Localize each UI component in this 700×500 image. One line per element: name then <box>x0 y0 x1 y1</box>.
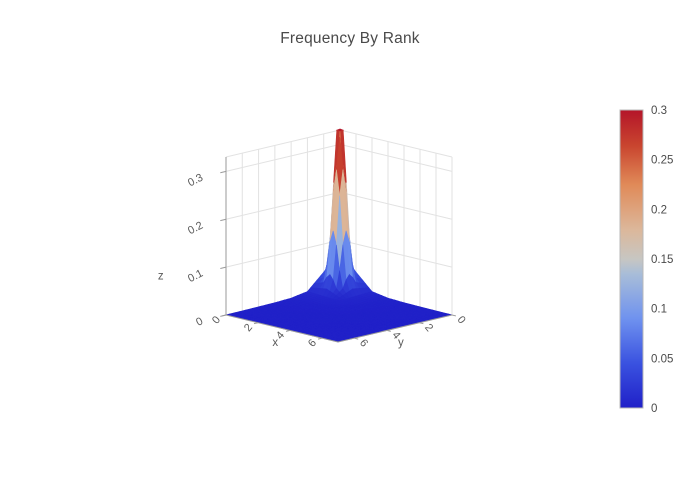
y-tick-label: 0 <box>455 314 468 326</box>
x-tick-mark <box>286 330 290 331</box>
z-tick-mark <box>220 267 226 268</box>
y-tick-mark <box>387 330 391 331</box>
colorbar-tick-label: 0.05 <box>651 353 673 365</box>
x-tick-mark <box>254 323 258 324</box>
y-tick-mark <box>354 338 358 339</box>
surface-plot-scene[interactable]: 0246024600.10.20.3 xyz 0.30.250.20.150.1… <box>0 0 700 500</box>
z-tick-label: 0.1 <box>186 267 205 285</box>
z-axis-title: z <box>158 270 164 282</box>
y-tick-mark <box>419 323 423 324</box>
x-tick-label: 2 <box>242 322 255 334</box>
y-tick-label: 6 <box>357 337 370 349</box>
z-tick-label: 0 <box>194 315 205 328</box>
colorbar-tick-label: 0.15 <box>651 254 673 266</box>
y-tick-label: 2 <box>422 322 435 334</box>
colorbar-tick-label: 0.2 <box>651 204 667 216</box>
x-axis-title: x <box>272 337 278 349</box>
colorbar[interactable]: 0.30.250.20.150.10.050 <box>620 105 673 415</box>
x-tick-label: 6 <box>306 337 319 349</box>
z-tick-mark <box>220 171 226 172</box>
z-tick-mark <box>220 219 226 220</box>
x-tick-mark <box>318 338 322 339</box>
colorbar-tick-label: 0.1 <box>651 304 667 316</box>
colorbar-tick-label: 0 <box>651 403 657 415</box>
y-tick-mark <box>452 315 456 316</box>
y-axis-title: y <box>398 337 404 349</box>
z-tick-mark <box>220 315 226 316</box>
colorbar-tick-label: 0.3 <box>651 105 667 117</box>
colorbar-gradient[interactable] <box>620 110 643 408</box>
z-tick-label: 0.2 <box>186 220 205 238</box>
colorbar-tick-label: 0.25 <box>651 155 673 167</box>
z-tick-label: 0.3 <box>186 172 205 190</box>
figure-root: Frequency By Rank 0246024600.10.20.3 xyz… <box>0 0 700 500</box>
page-title: Frequency By Rank <box>0 30 700 48</box>
